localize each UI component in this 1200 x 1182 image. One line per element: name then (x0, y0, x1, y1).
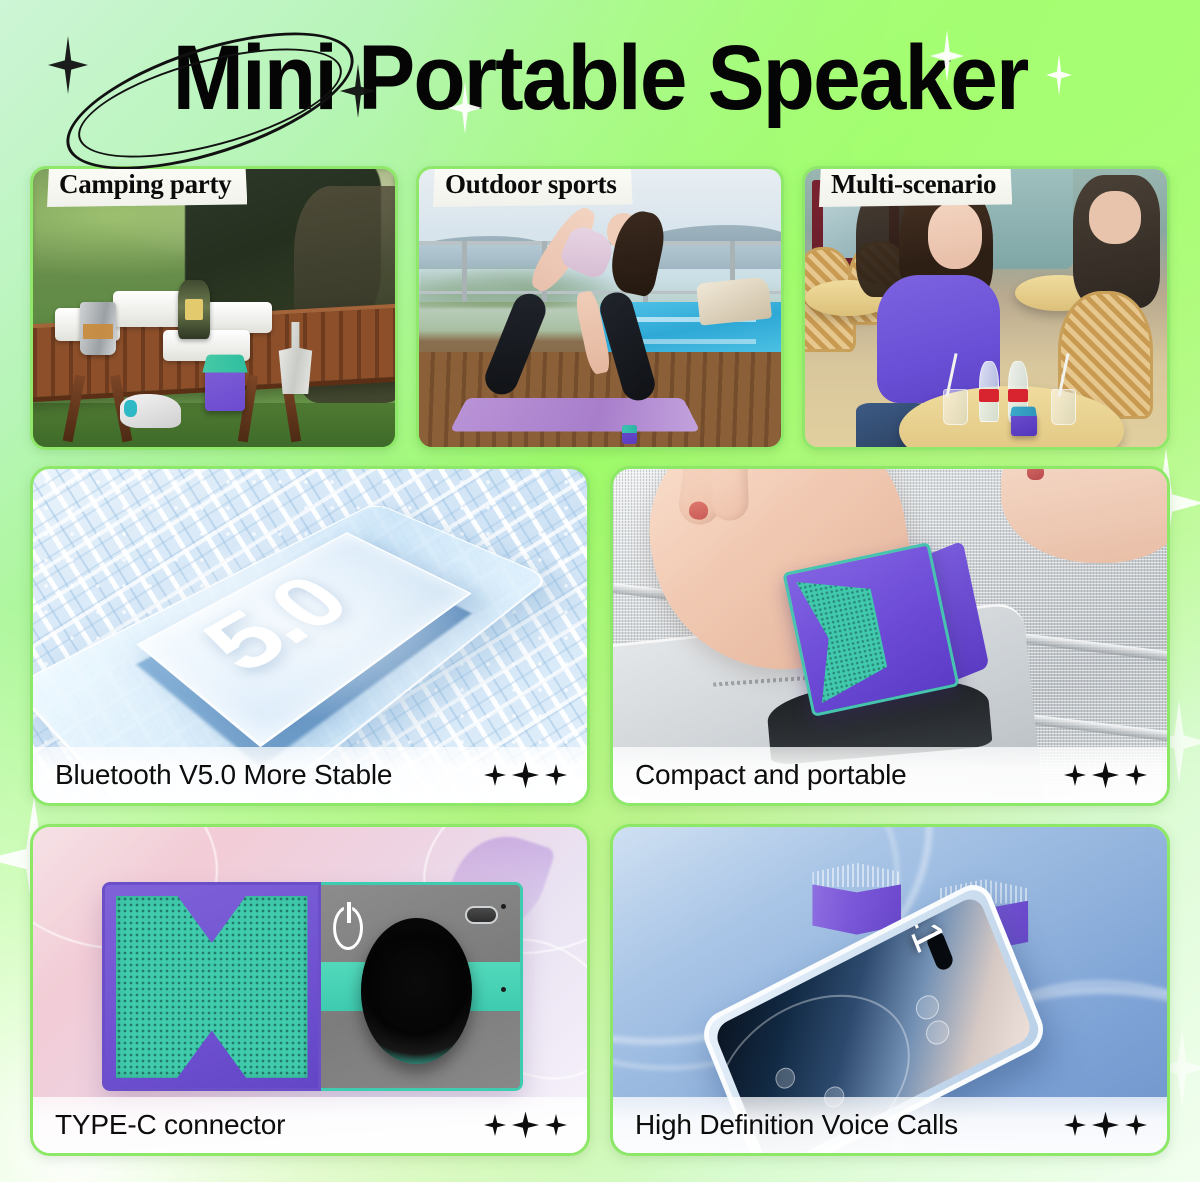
caption-bar-typec: TYPE-C connector (33, 1097, 587, 1153)
speaker-back-face (321, 882, 523, 1091)
feature-card-compact[interactable]: Compact and portable (610, 466, 1170, 806)
star-icon (1092, 1112, 1119, 1139)
feature-caption-voice-calls: High Definition Voice Calls (635, 1108, 958, 1142)
scene-card-camping[interactable]: Camping party (30, 166, 398, 450)
feature-caption-bluetooth: Bluetooth V5.0 More Stable (55, 758, 392, 792)
led-indicator-icon (501, 904, 506, 909)
passive-radiator (361, 918, 472, 1064)
feature-card-bluetooth[interactable]: 5.0 Bluetooth V5.0 More Stable (30, 466, 590, 806)
caption-bar-voice-calls: High Definition Voice Calls (613, 1097, 1167, 1153)
star-icon (545, 764, 567, 786)
caption-bar-compact: Compact and portable (613, 747, 1167, 803)
star-icon (484, 764, 506, 786)
speaker-product-cafe (1011, 414, 1036, 436)
feature-caption-compact: Compact and portable (635, 758, 907, 792)
star-icon (1064, 764, 1086, 786)
scene-card-outdoor-sports[interactable]: Outdoor sports (416, 166, 784, 450)
feature-card-voice-calls[interactable]: 09:41 High Definition Voice Calls (610, 824, 1170, 1156)
sparkle-icon-title-mid (340, 64, 376, 118)
caption-bar-bluetooth: Bluetooth V5.0 More Stable (33, 747, 587, 803)
power-icon (333, 906, 363, 951)
speaker-grille (116, 896, 308, 1078)
sparkle-icon-title-right (930, 30, 964, 82)
speaker-product-cube-left (812, 863, 901, 935)
feature-card-typec[interactable]: TYPE-C connector (30, 824, 590, 1156)
product-poster: Mini Portable Speaker (0, 0, 1200, 1182)
star-icon (1125, 1114, 1147, 1136)
star-icon (512, 762, 539, 789)
scene-label-outdoor-sports: Outdoor sports (431, 166, 633, 207)
lockscreen-widget (912, 991, 942, 1023)
rating-stars-typec (484, 1112, 567, 1139)
speaker-product-typec (102, 882, 523, 1091)
title-block: Mini Portable Speaker (0, 22, 1200, 140)
scene-card-multi-scenario[interactable]: Multi-scenario (802, 166, 1170, 450)
rating-stars-bluetooth (484, 762, 567, 789)
star-icon (484, 1114, 506, 1136)
scene-label-camping: Camping party (45, 166, 247, 207)
speaker-product-pocket (782, 542, 959, 717)
speaker-front-face (102, 882, 321, 1091)
feature-caption-typec: TYPE-C connector (55, 1108, 285, 1142)
star-icon (545, 1114, 567, 1136)
camping-photo (33, 169, 395, 447)
scene-label-multi-scenario: Multi-scenario (817, 166, 1012, 207)
sparkle-icon-title-far-right (1046, 54, 1072, 96)
sparkle-icon-title-mid-light (448, 82, 482, 134)
rating-stars-voice-calls (1064, 1112, 1147, 1139)
scenario-row: Camping party (30, 166, 1170, 450)
usb-c-port-icon (465, 906, 499, 924)
rating-stars-compact (1064, 762, 1147, 789)
star-icon (512, 1112, 539, 1139)
sparkle-icon-title-left (48, 36, 88, 94)
lockscreen-widget (923, 1017, 953, 1049)
star-icon (1125, 764, 1147, 786)
yoga-photo (419, 169, 781, 447)
speaker-product-camping (205, 364, 245, 411)
speaker-product-yoga (622, 425, 637, 444)
feature-grid: 5.0 Bluetooth V5.0 More Stable (30, 466, 1170, 1156)
star-icon (1064, 1114, 1086, 1136)
star-icon (1092, 762, 1119, 789)
cafe-photo (805, 169, 1167, 447)
